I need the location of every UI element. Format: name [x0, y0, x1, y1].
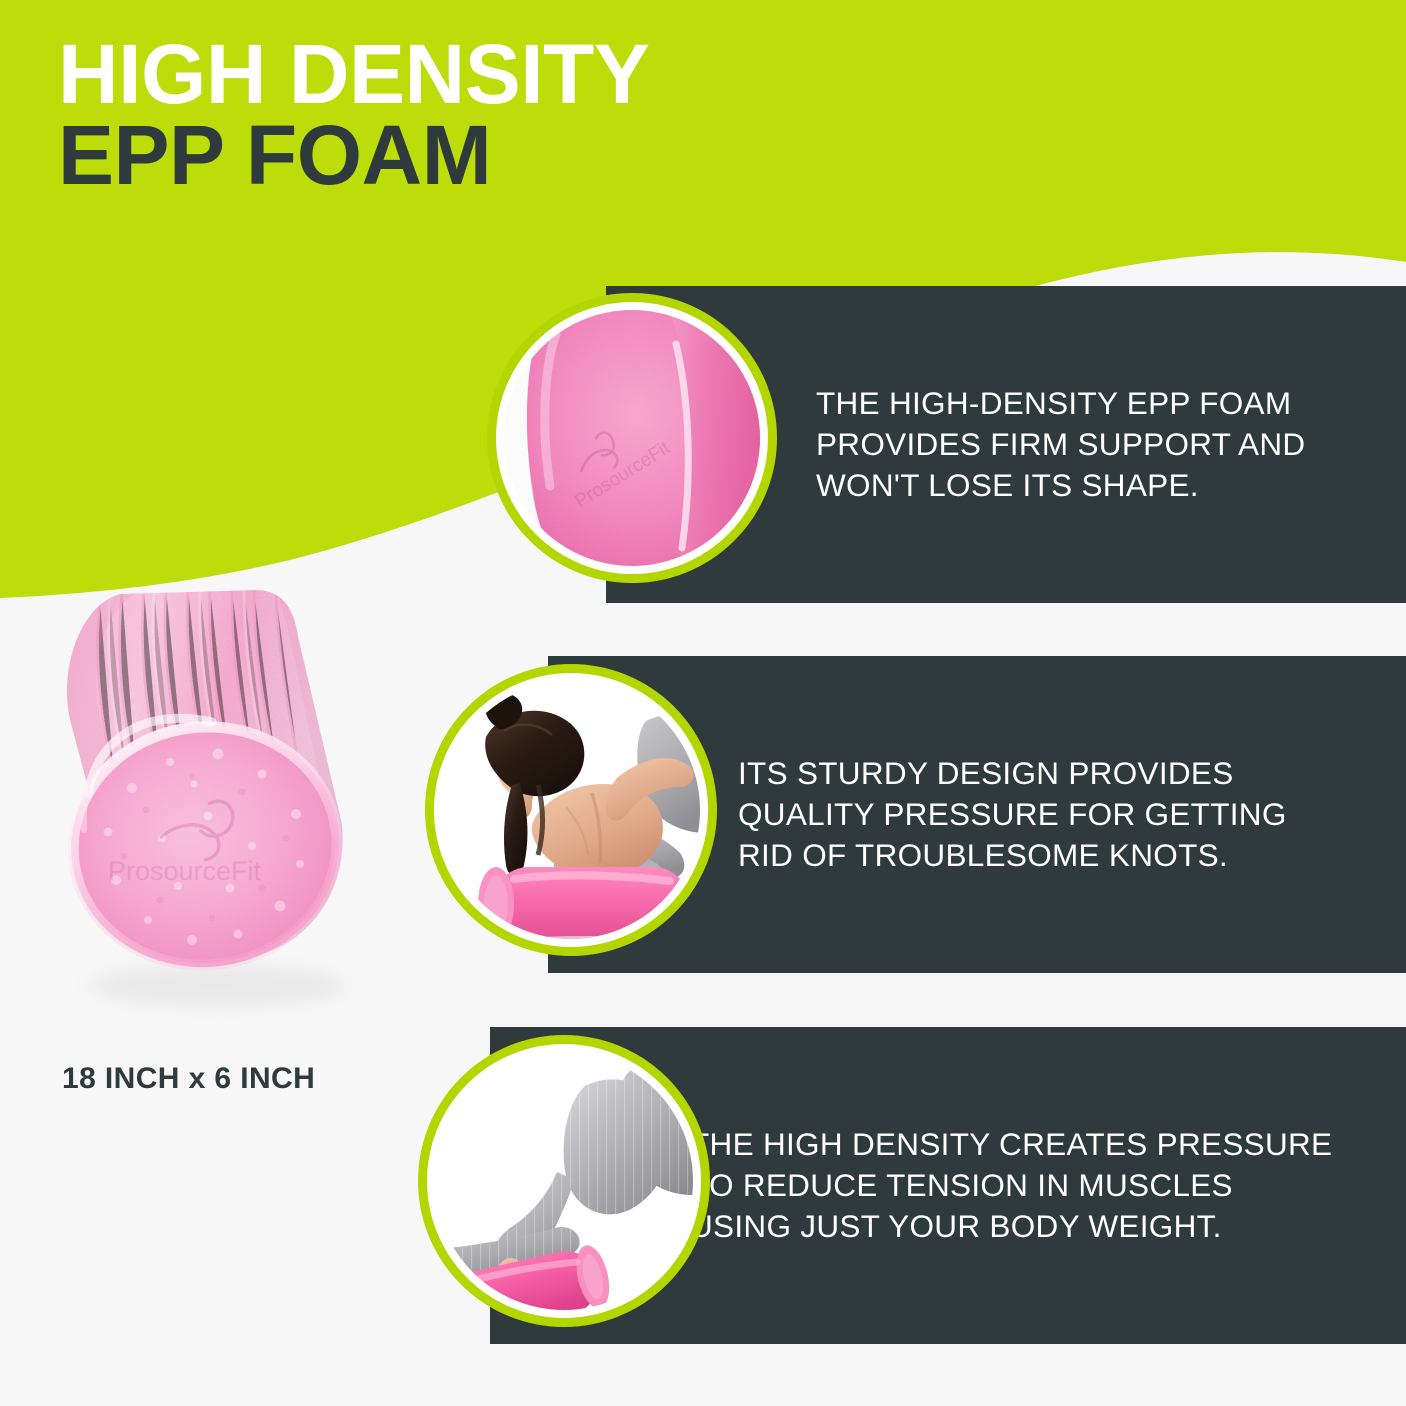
- page-title: HIGH DENSITY EPP FOAM: [58, 36, 649, 199]
- feature-image-circle-3: [418, 1035, 710, 1327]
- legs-calf-roll-illustration: [435, 1052, 693, 1310]
- title-line-primary: HIGH DENSITY: [58, 36, 649, 113]
- product-brand-text: ProsourceFit: [108, 856, 262, 886]
- foam-roller-end-closeup-illustration: ProsourceFit: [504, 310, 760, 566]
- feature-image-circle-1: ProsourceFit: [487, 293, 777, 583]
- product-dimension-label: 18 INCH x 6 INCH: [62, 1062, 315, 1096]
- main-product-image: ProsourceFit: [42, 588, 372, 1026]
- foam-roller-end-closeup-photo: ProsourceFit: [504, 310, 760, 566]
- legs-calf-roll-photo: [435, 1052, 693, 1310]
- foam-roller-product-illustration: ProsourceFit: [42, 588, 372, 1026]
- title-line-secondary: EPP FOAM: [58, 113, 649, 199]
- woman-back-roll-photo: [442, 681, 700, 939]
- woman-back-roll-illustration: [442, 681, 700, 939]
- feature-image-circle-2: [425, 664, 717, 956]
